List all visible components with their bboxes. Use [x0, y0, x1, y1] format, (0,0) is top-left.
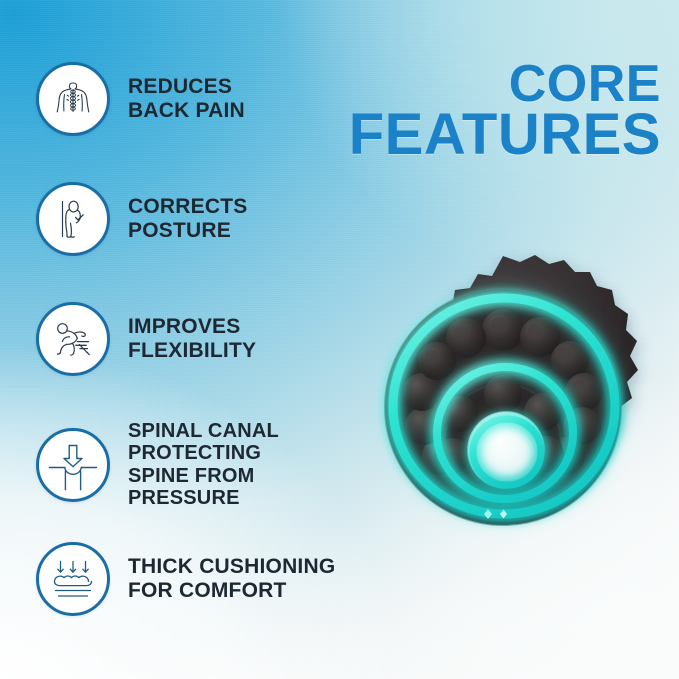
feature-item-thick-cushioning: THICK CUSHIONING FOR COMFORT — [36, 542, 366, 616]
feature-label: SPINAL CANAL PROTECTING SPINE FROM PRESS… — [128, 420, 279, 510]
standing-posture-icon — [36, 182, 110, 256]
feature-label: THICK CUSHIONING FOR COMFORT — [128, 555, 335, 602]
feature-label: CORRECTS POSTURE — [128, 195, 247, 242]
feature-item-corrects-posture: CORRECTS POSTURE — [36, 182, 366, 256]
running-person-icon — [36, 302, 110, 376]
downward-pressure-icon — [36, 428, 110, 502]
feature-item-improves-flexibility: IMPROVES FLEXIBILITY — [36, 302, 366, 376]
product-image-foam-roller — [338, 242, 668, 572]
feature-item-reduces-back-pain: REDUCES BACK PAIN — [36, 62, 366, 136]
cushion-arrows-icon — [36, 542, 110, 616]
core-features-poster: CORE FEATURES — [0, 0, 679, 679]
spine-back-icon — [36, 62, 110, 136]
feature-item-spinal-canal: SPINAL CANAL PROTECTING SPINE FROM PRESS… — [36, 420, 366, 510]
feature-label: REDUCES BACK PAIN — [128, 75, 245, 122]
feature-label: IMPROVES FLEXIBILITY — [128, 315, 256, 362]
